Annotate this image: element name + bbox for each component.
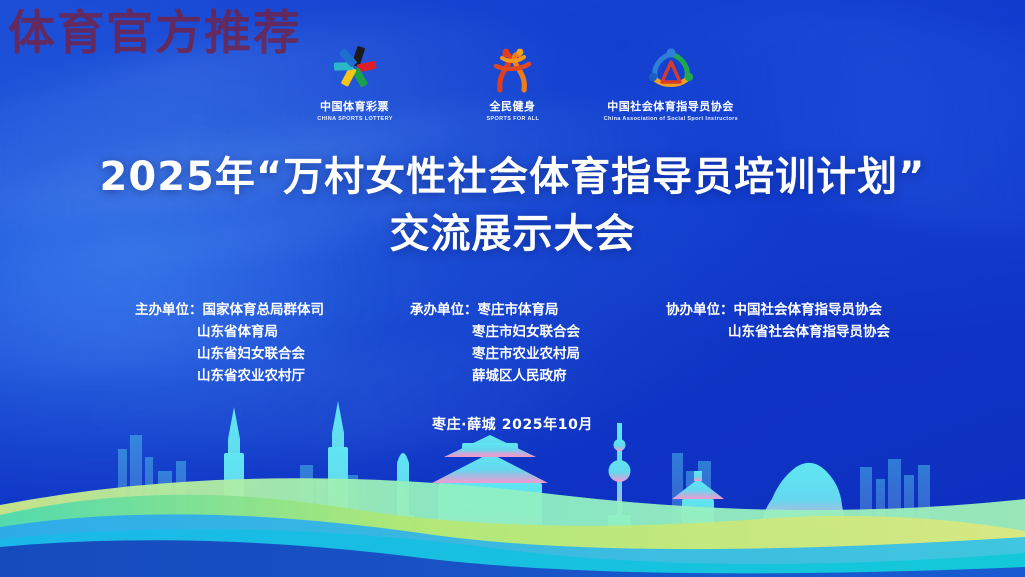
organizer-block-co-host: 承办单位：枣庄市体育局 枣庄市妇女联合会 枣庄市农业农村局 薛城区人民政府 bbox=[410, 300, 580, 387]
logo-label-cn: 中国体育彩票 bbox=[320, 98, 389, 114]
organizer-line: 山东省农业农村厅 bbox=[135, 366, 324, 388]
china-sports-lottery-icon bbox=[323, 42, 387, 94]
logo-label-en: SPORTS FOR ALL bbox=[486, 116, 539, 122]
title-line-2: 交流展示大会 bbox=[0, 209, 1025, 260]
logo-china-sports-lottery: 中国体育彩票 CHINA SPORTS LOTTERY bbox=[300, 42, 410, 122]
organizer-first-line: 承办单位：枣庄市体育局 bbox=[410, 300, 580, 322]
logo-label-en: China Association of Social Sport Instru… bbox=[603, 116, 737, 122]
organizer-block-support: 协办单位：中国社会体育指导员协会 山东省社会体育指导员协会 bbox=[666, 300, 890, 387]
skyline-svg bbox=[0, 387, 1025, 577]
organizer-line: 山东省妇女联合会 bbox=[135, 344, 324, 366]
logo-label-en: CHINA SPORTS LOTTERY bbox=[317, 116, 392, 122]
title-line-1: 2025年“万村女性社会体育指导员培训计划” bbox=[0, 152, 1025, 203]
logo-label-cn: 全民健身 bbox=[490, 98, 536, 114]
logo-label-cn: 中国社会体育指导员协会 bbox=[607, 98, 734, 114]
organizer-first-value: 枣庄市体育局 bbox=[478, 302, 559, 318]
event-poster: 体育官方推荐 中国体育彩票 CHINA SPORTS LOTTERY bbox=[0, 0, 1025, 577]
social-sport-instructors-icon bbox=[640, 42, 702, 94]
organizer-label: 承办单位： bbox=[410, 302, 478, 318]
poster-title: 2025年“万村女性社会体育指导员培训计划” 交流展示大会 bbox=[0, 152, 1025, 260]
organizer-first-value: 国家体育总局群体司 bbox=[203, 302, 325, 318]
logo-row: 中国体育彩票 CHINA SPORTS LOTTERY 全民健身 SPORTS … bbox=[0, 42, 1025, 122]
organizer-block-host: 主办单位：国家体育总局群体司 山东省体育局 山东省妇女联合会 山东省农业农村厅 bbox=[135, 300, 324, 387]
organizer-label: 协办单位： bbox=[666, 302, 734, 318]
bottom-skyline-graphic bbox=[0, 387, 1025, 577]
organizer-line: 枣庄市妇女联合会 bbox=[410, 322, 580, 344]
organizer-line: 枣庄市农业农村局 bbox=[410, 344, 580, 366]
sports-for-all-icon bbox=[482, 42, 544, 94]
organizer-first-line: 主办单位：国家体育总局群体司 bbox=[135, 300, 324, 322]
logo-sports-for-all: 全民健身 SPORTS FOR ALL bbox=[458, 42, 568, 122]
organizer-first-value: 中国社会体育指导员协会 bbox=[734, 302, 883, 318]
organizer-first-line: 协办单位：中国社会体育指导员协会 bbox=[666, 300, 890, 322]
organizer-line: 薛城区人民政府 bbox=[410, 366, 580, 388]
logo-social-sport-instructors: 中国社会体育指导员协会 China Association of Social … bbox=[616, 42, 726, 122]
organizer-list: 主办单位：国家体育总局群体司 山东省体育局 山东省妇女联合会 山东省农业农村厅 … bbox=[0, 300, 1025, 387]
organizer-label: 主办单位： bbox=[135, 302, 203, 318]
organizer-line: 山东省社会体育指导员协会 bbox=[666, 322, 890, 344]
organizer-line: 山东省体育局 bbox=[135, 322, 324, 344]
